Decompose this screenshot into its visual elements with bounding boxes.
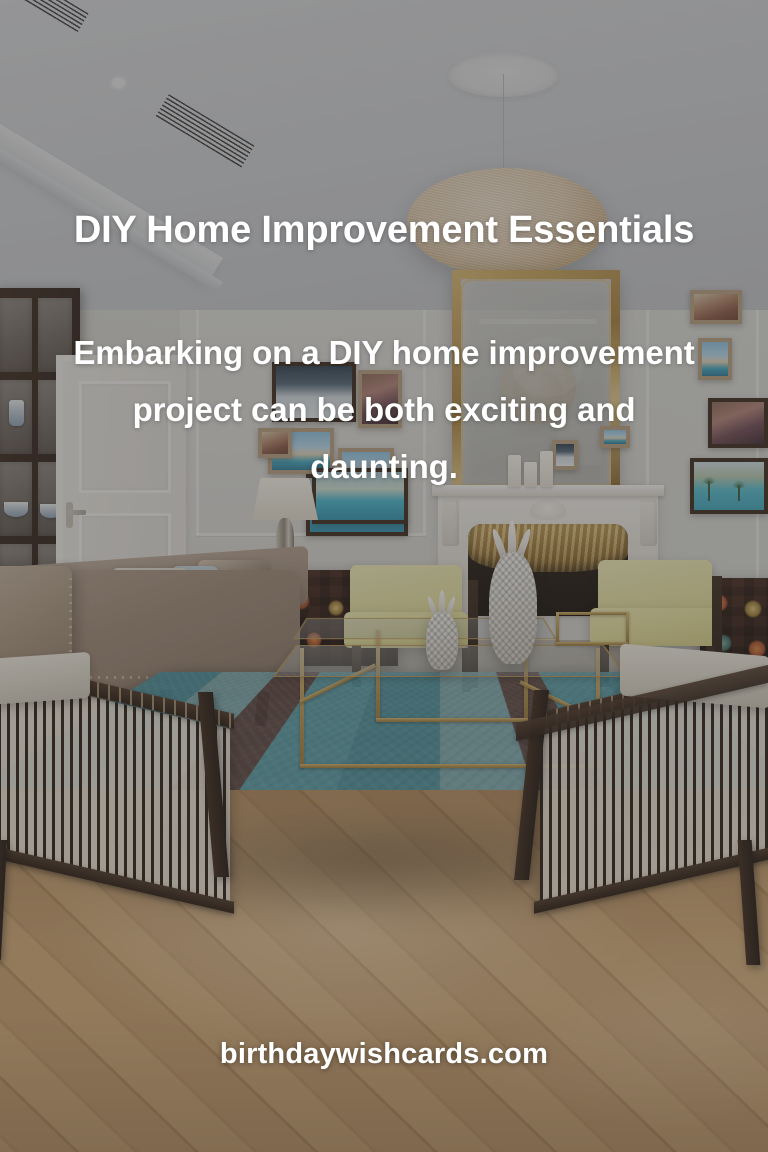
- text-overlay: DIY Home Improvement Essentials Embarkin…: [0, 0, 768, 1152]
- pin-subtitle: Embarking on a DIY home improvement proj…: [70, 325, 698, 495]
- pin-title: DIY Home Improvement Essentials: [60, 208, 708, 253]
- website-url: birthdaywishcards.com: [0, 1038, 768, 1071]
- pinterest-pin-graphic: DIY Home Improvement Essentials Embarkin…: [0, 0, 768, 1152]
